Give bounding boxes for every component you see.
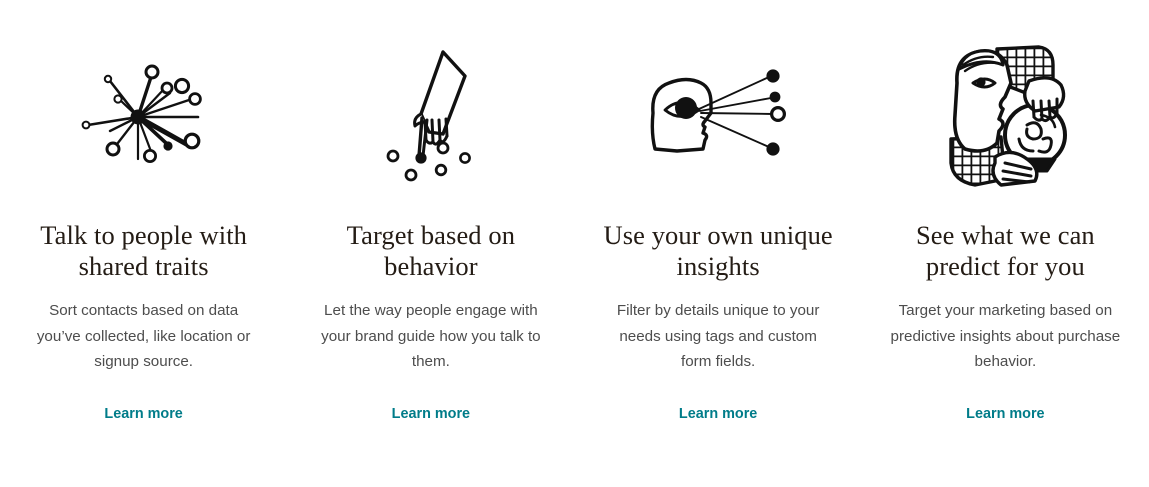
feature-title: Use your own unique insights bbox=[597, 220, 840, 282]
feature-body: Filter by details unique to your needs u… bbox=[602, 298, 834, 375]
learn-more-link[interactable]: Learn more bbox=[966, 404, 1044, 424]
feature-grid: Talk to people with shared traits Sort c… bbox=[0, 0, 1149, 487]
learn-more-link[interactable]: Learn more bbox=[104, 404, 182, 424]
network-nodes-illustration bbox=[22, 28, 265, 198]
feature-column-behavior: Target based on behavior Let the way peo… bbox=[287, 28, 574, 487]
feature-column-predict: See what we can predict for you Target y… bbox=[862, 28, 1149, 487]
pointing-hand-dots-illustration bbox=[309, 28, 552, 198]
learn-more-link[interactable]: Learn more bbox=[392, 404, 470, 424]
head-eye-sightlines-illustration bbox=[597, 28, 840, 198]
feature-body: Target your marketing based on predictiv… bbox=[889, 298, 1121, 375]
feature-title: Target based on behavior bbox=[309, 220, 552, 282]
feature-column-insights: Use your own unique insights Filter by d… bbox=[575, 28, 862, 487]
feature-body: Sort contacts based on data you’ve colle… bbox=[28, 298, 260, 375]
feature-column-shared-traits: Talk to people with shared traits Sort c… bbox=[0, 28, 287, 487]
feature-title: See what we can predict for you bbox=[884, 220, 1127, 282]
fortune-teller-crystal-ball-illustration bbox=[884, 28, 1127, 198]
learn-more-link[interactable]: Learn more bbox=[679, 404, 757, 424]
feature-title: Talk to people with shared traits bbox=[22, 220, 265, 282]
feature-body: Let the way people engage with your bran… bbox=[315, 298, 547, 375]
